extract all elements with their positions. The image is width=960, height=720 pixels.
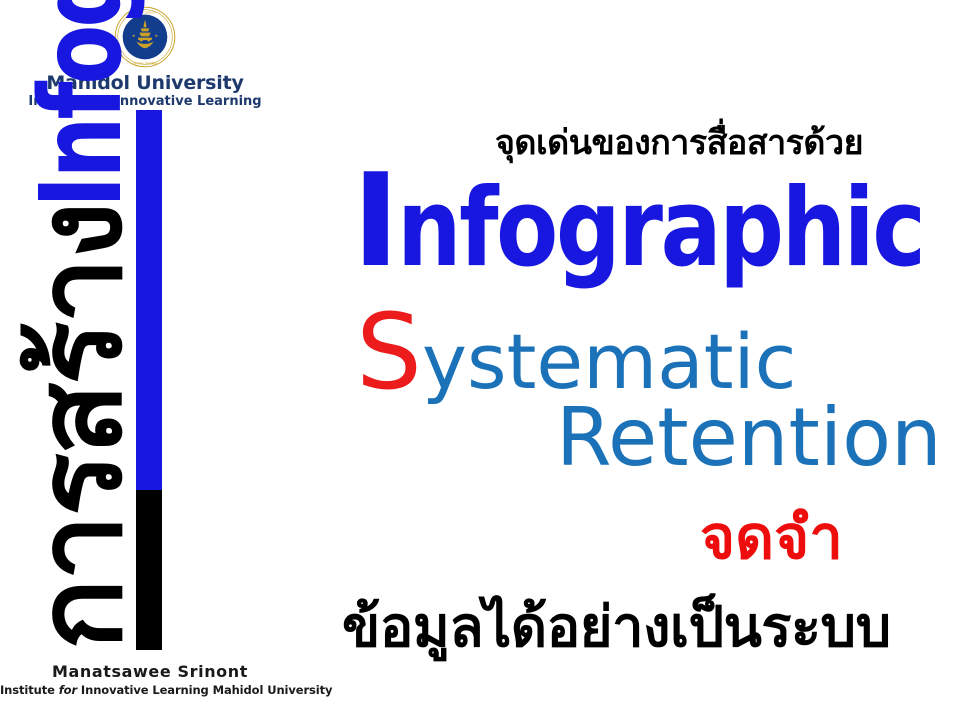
headline-infographic-initial: I: [352, 147, 397, 296]
affiliation-post: Innovative Learning Mahidol University: [77, 683, 332, 697]
affiliation-italic: for: [59, 683, 77, 697]
author-credit-block: Manatsawee Srinont Institute for Innovat…: [0, 662, 300, 697]
vertical-title-thai: การสร้าง: [25, 204, 134, 650]
author-affiliation: Institute for Innovative Learning Mahido…: [0, 683, 300, 697]
vertical-title-words: การสร้าง Infographic: [25, 0, 134, 650]
presentation-slide: อตฺตานํ อุปมํ กเร มหาวิทยาลัยมหิดล Mahid…: [0, 0, 960, 720]
headline-systematic: Systematic: [356, 300, 796, 404]
headline-thai-bottom: ข้อมูลได้อย่างเป็นระบบ: [342, 600, 891, 656]
vertical-title-block: การสร้าง Infographic: [25, 90, 265, 650]
headline-systematic-initial: S: [356, 291, 422, 413]
underline-bar-black-segment: [136, 490, 162, 650]
headline-thai-red: จดจำ: [700, 508, 843, 568]
headline-infographic-rest: nfographic: [397, 175, 923, 283]
headline-retention: Retention: [556, 398, 942, 478]
affiliation-pre: Institute: [0, 683, 59, 697]
vertical-title-english: Infographic: [31, 0, 134, 208]
headline-infographic: Infographic: [352, 158, 960, 286]
author-name: Manatsawee Srinont: [0, 662, 300, 681]
headline-thai-top: จุดเด่นของการสื่อสารด้วย: [495, 126, 863, 160]
